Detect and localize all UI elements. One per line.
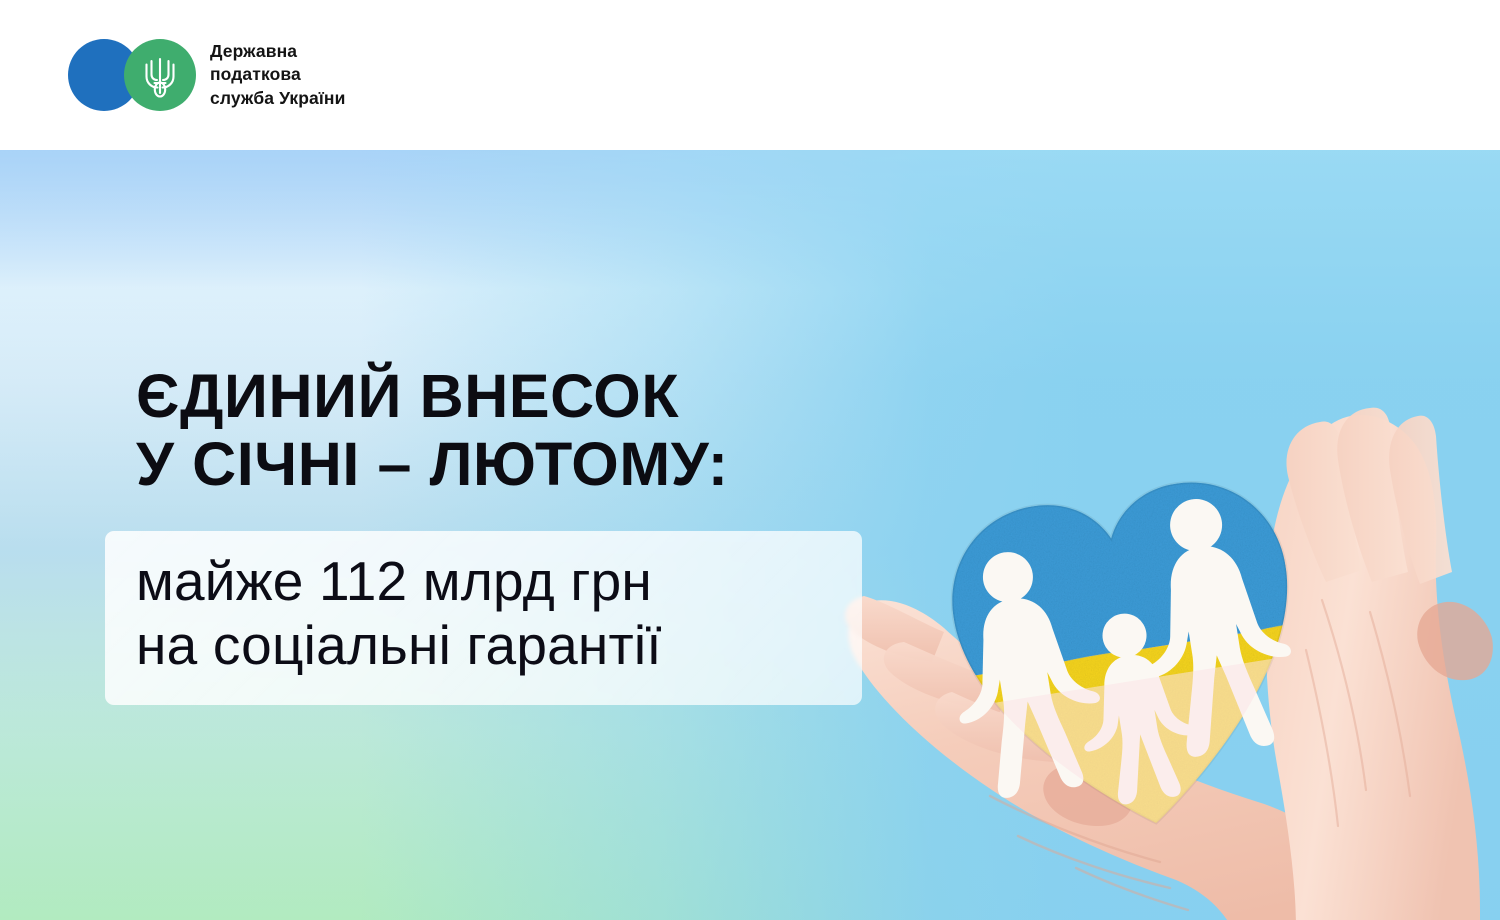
logo-marks xyxy=(68,39,196,111)
ukraine-flag-heart-icon xyxy=(925,459,1335,856)
organization-logo: Державна податкова служба України xyxy=(68,39,345,111)
social-media-banner: Державна податкова служба України xyxy=(0,0,1500,920)
subheadline-text: майже 112 млрд грн на соціальні гарантії xyxy=(136,549,662,678)
ukraine-trident-icon xyxy=(124,39,196,111)
page-title: ЄДИНИЙ ВНЕСОК У СІЧНІ – ЛЮТОМУ: xyxy=(136,362,729,499)
organization-name: Державна податкова служба України xyxy=(210,40,345,110)
brand-header: Державна податкова служба України xyxy=(0,0,1500,150)
